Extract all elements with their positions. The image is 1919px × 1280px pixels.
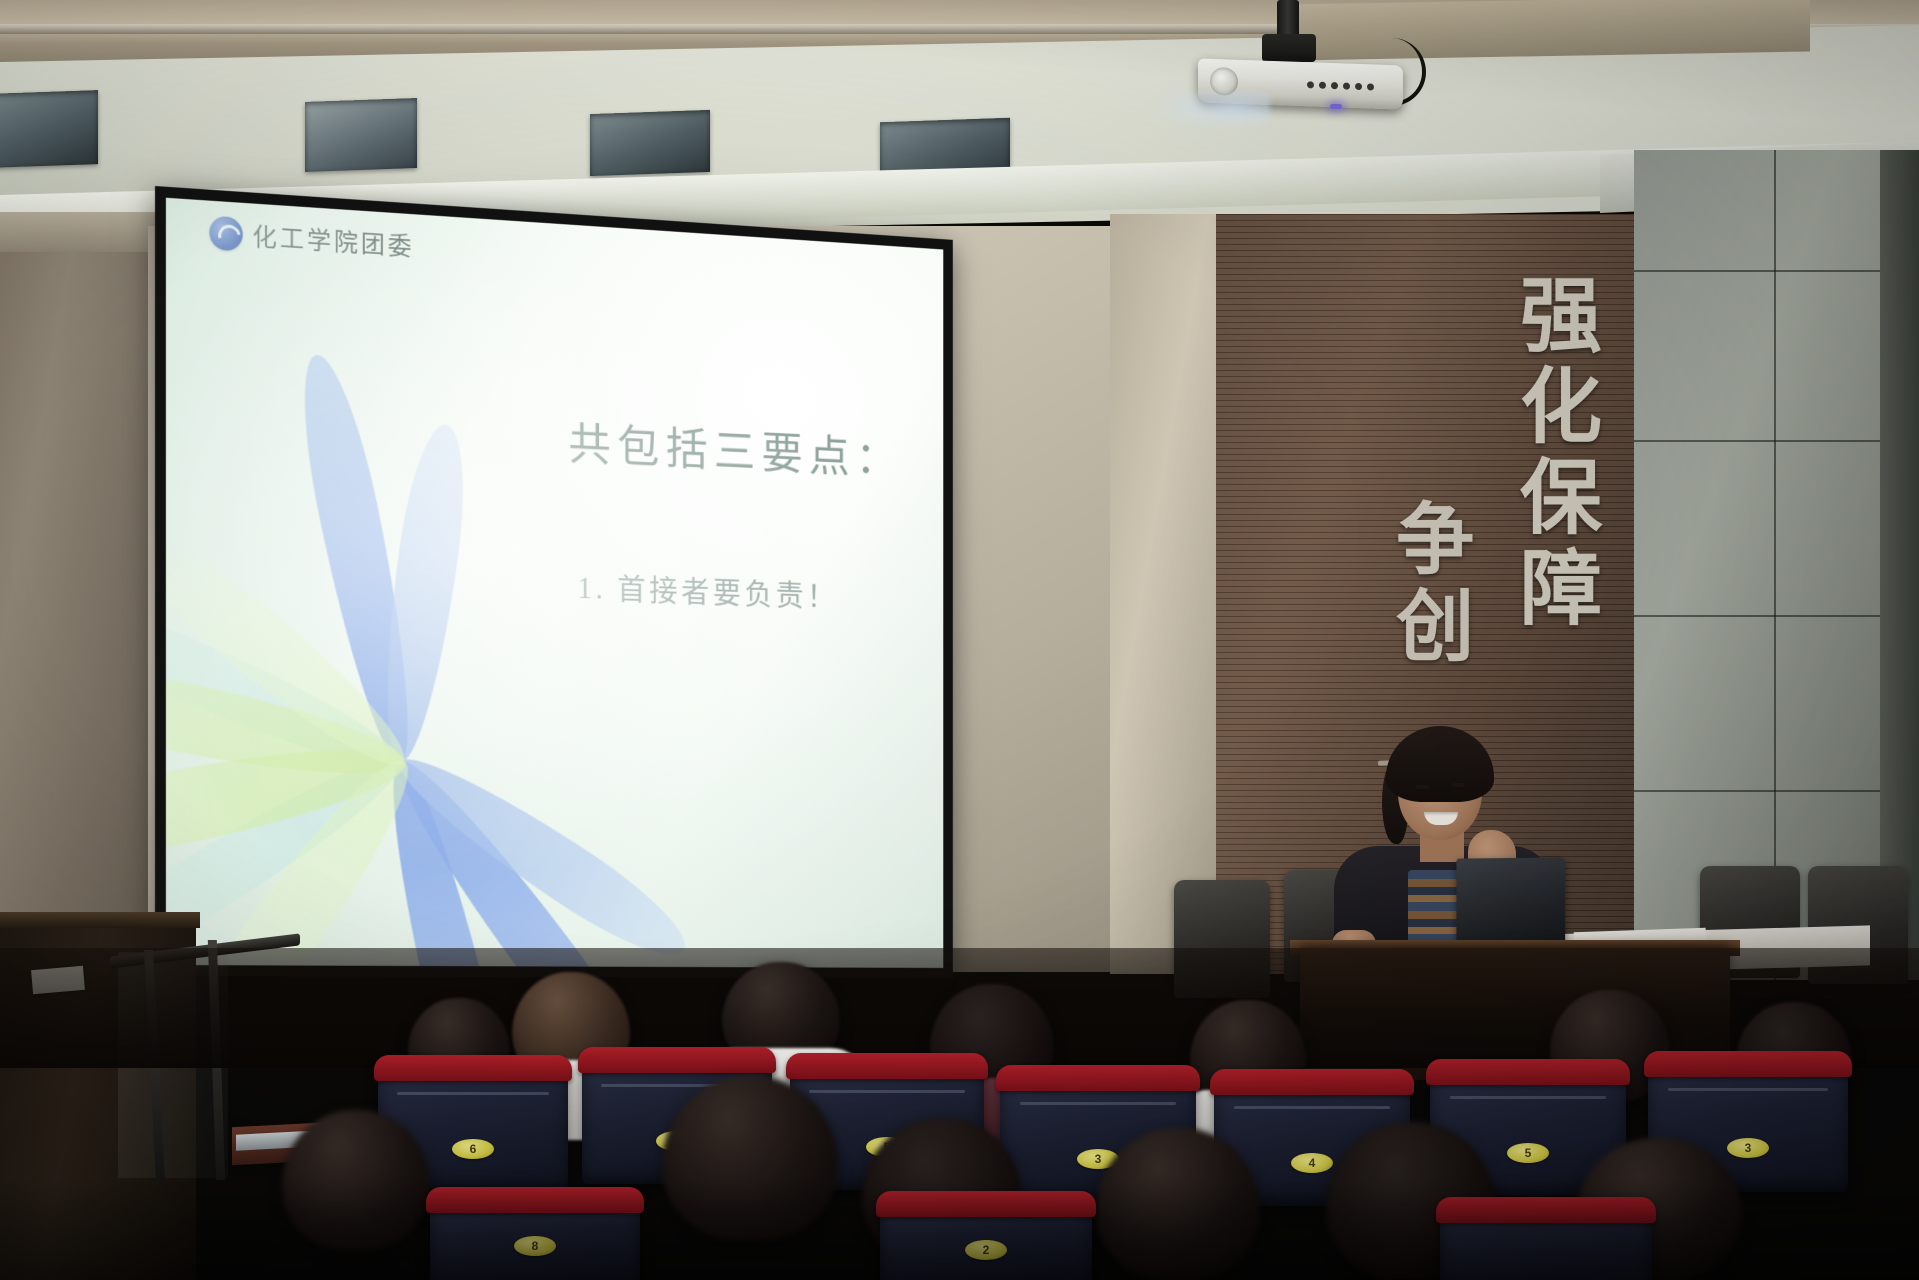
audience-head — [1096, 1128, 1260, 1280]
seat-trim — [578, 1047, 776, 1073]
audience-seat[interactable] — [1440, 1206, 1652, 1280]
projector-ports — [1307, 76, 1393, 95]
seat-seam — [397, 1092, 549, 1095]
wall-column — [1110, 214, 1222, 974]
audience-seat[interactable]: 8 — [430, 1196, 640, 1280]
spiral-circle-logo-icon — [209, 216, 242, 252]
presenter-eye — [1452, 783, 1465, 787]
seat-trim — [786, 1053, 988, 1079]
projection-screen[interactable]: 化工学院团委 共包括三要点： 1. 首接者要负责！ — [155, 186, 953, 978]
slide-surface: 化工学院团委 共包括三要点： 1. 首接者要负责！ — [166, 198, 943, 968]
seat-trim — [1426, 1059, 1630, 1085]
seat-trim — [374, 1055, 572, 1081]
seat-number-badge: 8 — [514, 1236, 556, 1256]
slide-logo-label: 化工学院团委 — [252, 217, 414, 263]
seat-number-badge: 5 — [1507, 1143, 1549, 1163]
lecture-hall-photo: 强化保障 争创 化工学院团委 共包括三要点： 1. 首接者要负责！ — [0, 0, 1919, 1280]
seat-number-badge: 2 — [965, 1240, 1007, 1260]
presenter-eye — [1416, 785, 1429, 789]
ceiling-vent — [305, 98, 417, 172]
seat-trim — [426, 1187, 644, 1213]
audience-head — [662, 1076, 838, 1240]
seat-seam — [1020, 1102, 1177, 1105]
ceiling-vent — [590, 110, 710, 176]
audience-seat[interactable]: 2 — [880, 1200, 1092, 1280]
slide-title: 共包括三要点： — [568, 408, 902, 487]
projector-beam-glow — [1150, 92, 1270, 130]
wall-calligraphy-right: 强化保障 — [1508, 272, 1597, 636]
seat-trim — [1644, 1051, 1852, 1077]
right-wall-edge — [1880, 150, 1919, 980]
seat-seam — [1234, 1106, 1391, 1109]
projector-bracket — [1262, 34, 1316, 62]
seat-trim — [1210, 1069, 1414, 1095]
slide-logo: 化工学院团委 — [209, 215, 414, 264]
seat-seam — [809, 1090, 964, 1093]
seat-number-badge: 4 — [1291, 1153, 1333, 1173]
seat-trim — [996, 1065, 1200, 1091]
projector-status-led — [1330, 104, 1342, 109]
seat-seam — [1668, 1088, 1828, 1091]
presenter-laptop[interactable] — [1456, 857, 1565, 946]
right-wall-panels — [1634, 150, 1919, 980]
seat-seam — [1450, 1096, 1607, 1099]
seat-number-badge: 6 — [452, 1139, 494, 1159]
seat-trim — [876, 1191, 1096, 1217]
audience-head — [282, 1110, 430, 1250]
lectern-top — [0, 912, 200, 928]
seat-trim — [1436, 1197, 1656, 1223]
ceiling-vent — [0, 90, 98, 168]
slide-bullet-1: 1. 首接者要负责！ — [578, 563, 839, 615]
wall-calligraphy-left: 争创 — [1386, 498, 1470, 672]
seat-number-badge: 3 — [1727, 1138, 1769, 1158]
